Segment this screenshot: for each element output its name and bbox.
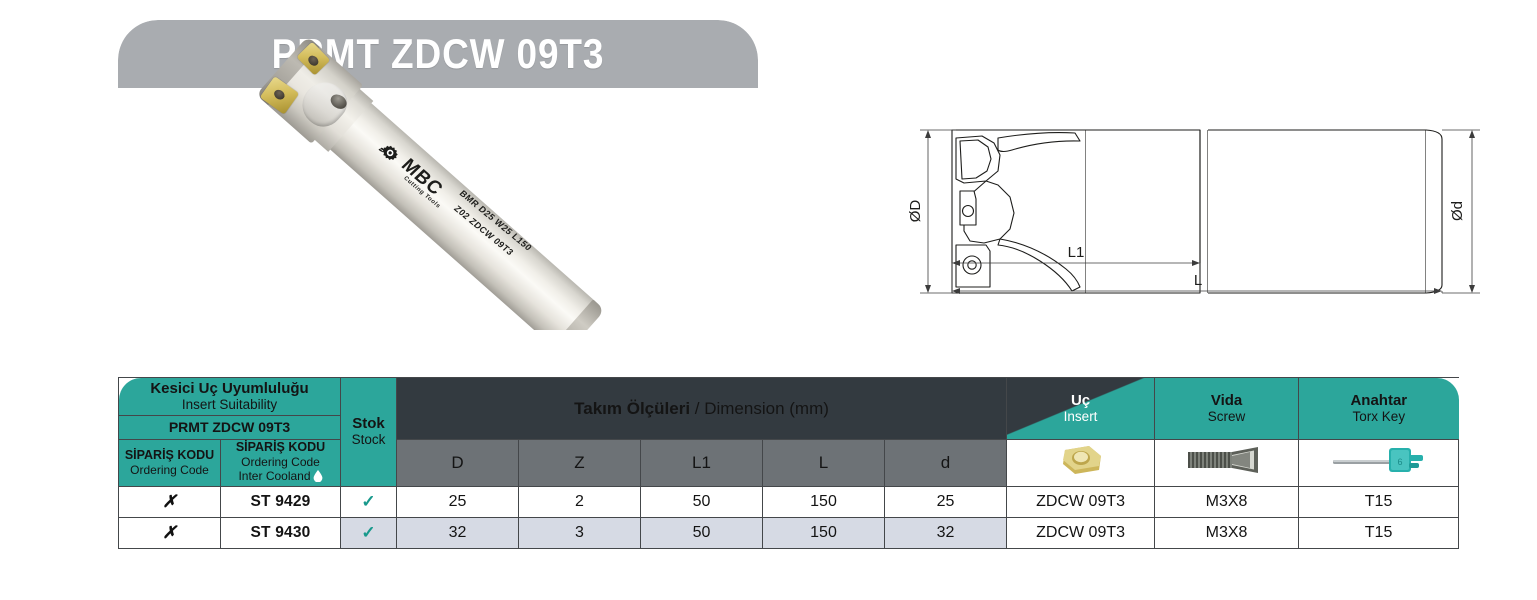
dim-col-label: d [941,453,950,472]
dimension-tr: Takım Ölçüleri [574,399,690,418]
cell-Z: 3 [519,517,641,548]
header-dim-D: D [397,440,519,487]
header-screw: Vida Screw [1155,378,1299,440]
cell-torx: T15 [1299,486,1459,517]
dim-col-label: D [451,453,463,472]
technical-drawing-svg: ØD Ød L1 [890,95,1530,325]
header-insert-type: PRMT ZDCW 09T3 [119,416,341,440]
carbide-insert-icon [1055,467,1107,484]
ordering-code-en: Ordering Code [119,463,220,477]
cell-insert: ZDCW 09T3 [1007,486,1155,517]
header-dimension: Takım Ölçüleri / Dimension (mm) [397,378,1007,440]
header-dim-L1: L1 [641,440,763,487]
cell-suitability: ✗ [119,517,221,548]
cell-ordering-code: ST 9429 [221,486,341,517]
table-header-row-3: SİPARİŞ KODU Ordering Code SİPARİŞ KODU … [119,440,1459,487]
insert-suitability-en: Insert Suitability [119,397,340,413]
dim-col-label: Z [574,453,584,472]
dim-label-shank-diameter: Ød [1449,201,1466,221]
table-row[interactable]: ✗ ST 9430 ✓ 32 3 50 150 32 ZDCW 09T3 M3X… [119,517,1459,548]
cell-D: 25 [397,486,519,517]
header-dim-L: L [763,440,885,487]
product-photo: MBC Cutting Tools BMR D25 W25 L150 Z02 Z… [118,88,758,330]
water-droplet-icon [313,470,323,485]
header-dim-Z: Z [519,440,641,487]
cell-insert: ZDCW 09T3 [1007,517,1155,548]
insert-suitability-tr: Kesici Uç Uyumluluğu [119,380,340,397]
insert-en: Insert [1007,409,1154,425]
cell-L: 150 [763,517,885,548]
insert-screw-hole [272,88,286,102]
dim-col-label: L1 [692,453,711,472]
svg-text:6: 6 [1397,457,1402,467]
specification-table: Kesici Uç Uyumluluğu Insert Suitability … [118,377,1458,553]
insert-screw-hole [306,54,320,68]
cell-ordering-code: ST 9430 [221,517,341,548]
table-row[interactable]: ✗ ST 9429 ✓ 25 2 50 150 25 ZDCW 09T3 M3X… [119,486,1459,517]
ordering-code-value: ST 9429 [251,493,311,510]
technical-drawing: ØD Ød L1 [890,95,1530,325]
header-insert-suitability: Kesici Uç Uyumluluğu Insert Suitability [119,378,341,416]
dimension-separator: / [690,399,704,418]
cell-torx: T15 [1299,517,1459,548]
header-insert: Uç Insert [1007,378,1155,440]
cell-Z: 2 [519,486,641,517]
insert-tr: Uç [1007,392,1154,409]
insert-image-cell [1007,440,1155,487]
stock-check-icon: ✓ [361,523,375,542]
cell-screw: M3X8 [1155,517,1299,548]
header-dim-d: d [885,440,1007,487]
ordering-code-coolant-en2: Inter Cooland [238,469,310,483]
ordering-code-tr: SİPARİŞ KODU [119,448,220,463]
cell-D: 32 [397,517,519,548]
dim-col-label: L [819,453,828,472]
stock-en: Stock [341,432,396,448]
torx-tr: Anahtar [1299,392,1459,409]
ordering-code-value: ST 9430 [251,524,311,541]
cell-screw: M3X8 [1155,486,1299,517]
dimension-en: Dimension (mm) [704,399,829,418]
cell-L1: 50 [641,517,763,548]
ordering-code-coolant-en: Ordering Code [221,455,340,469]
dim-label-outer-diameter: ØD [907,200,924,223]
header-ordering-code-coolant: SİPARİŞ KODU Ordering Code Inter Cooland [221,440,341,487]
torx-key-image-cell: 6 [1299,440,1459,487]
stock-tr: Stok [341,415,396,432]
dim-label-l: L [1194,272,1202,289]
torx-en: Torx Key [1299,409,1459,425]
torx-key-icon: 6 [1329,464,1429,481]
ordering-code-coolant-tr: SİPARİŞ KODU [221,440,340,455]
cell-suitability: ✗ [119,486,221,517]
table-header-row-1: Kesici Uç Uyumluluğu Insert Suitability … [119,378,1459,416]
header-torx-key: Anahtar Torx Key [1299,378,1459,440]
header-ordering-code: SİPARİŞ KODU Ordering Code [119,440,221,487]
suitability-mark: ✗ [162,523,176,542]
cell-L: 150 [763,486,885,517]
cell-stock: ✓ [341,486,397,517]
screw-image-cell [1155,440,1299,487]
screw-en: Screw [1155,409,1298,425]
suitability-mark: ✗ [162,492,176,511]
product-card: PRMT ZDCW 09T3 [118,20,758,330]
table-body: ✗ ST 9429 ✓ 25 2 50 150 25 ZDCW 09T3 M3X… [119,486,1459,548]
cell-d: 25 [885,486,1007,517]
stock-check-icon: ✓ [361,492,375,511]
cell-L1: 50 [641,486,763,517]
cell-stock: ✓ [341,517,397,548]
cell-d: 32 [885,517,1007,548]
datasheet-page: PRMT ZDCW 09T3 [0,0,1537,600]
spec-table-element: Kesici Uç Uyumluluğu Insert Suitability … [118,377,1459,549]
torx-screw-icon [1184,462,1270,479]
screw-tr: Vida [1155,392,1298,409]
dim-label-l1: L1 [1068,244,1085,261]
header-stock: Stok Stock [341,378,397,487]
insert-type-label: PRMT ZDCW 09T3 [119,419,340,436]
